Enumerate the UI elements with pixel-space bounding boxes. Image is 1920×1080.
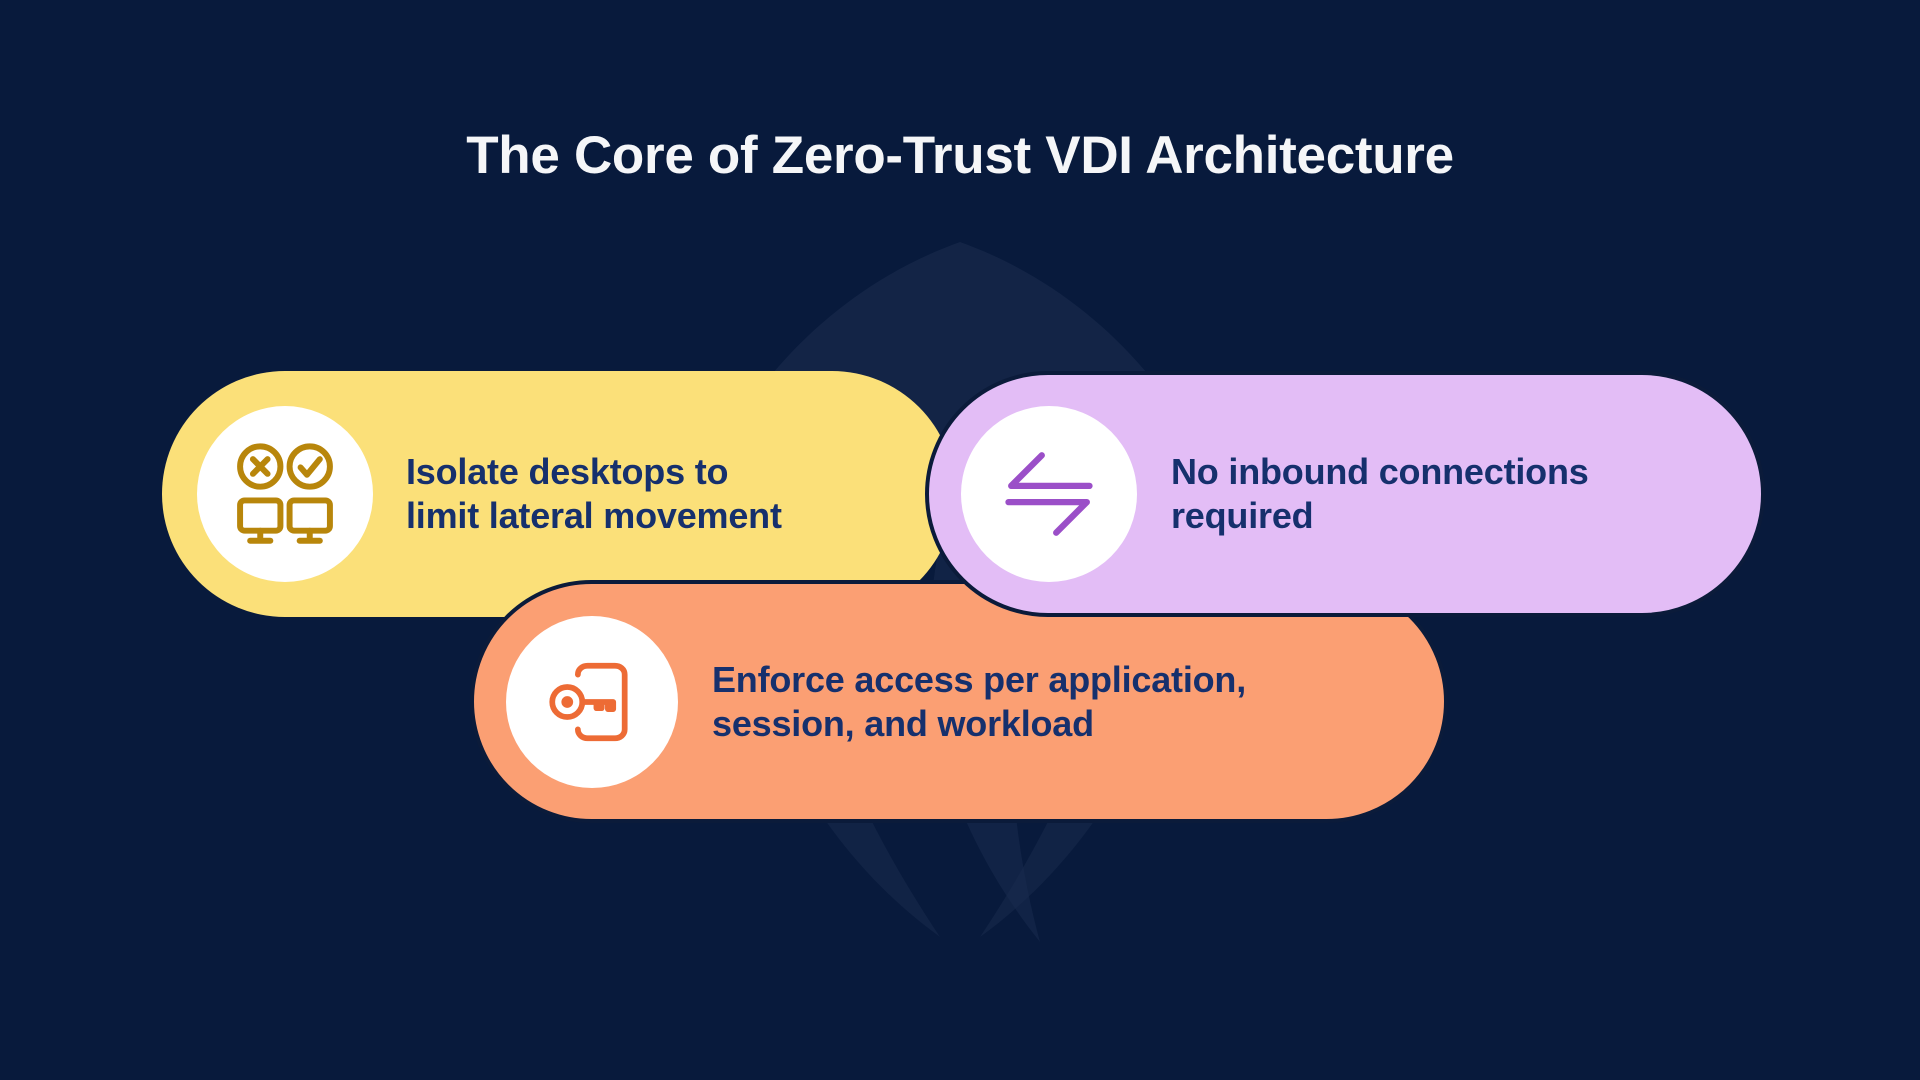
infographic-canvas: The Core of Zero-Trust VDI Architecture: [0, 0, 1920, 1080]
icon-circle-yellow: [197, 406, 373, 582]
key-door-access-icon: [539, 649, 645, 755]
card-line: required: [1171, 494, 1731, 538]
page-title: The Core of Zero-Trust VDI Architecture: [0, 127, 1920, 185]
card-text-isolate-desktops: Isolate desktops to limit lateral moveme…: [406, 450, 906, 538]
card-text-enforce-access: Enforce access per application, session,…: [712, 658, 1412, 746]
screens-allow-deny-icon: [230, 439, 340, 549]
card-line: session, and workload: [712, 702, 1412, 746]
card-line: limit lateral movement: [406, 494, 906, 538]
card-line: Enforce access per application,: [712, 658, 1412, 702]
card-text-no-inbound-connections: No inbound connections required: [1171, 450, 1731, 538]
card-no-inbound-connections[interactable]: No inbound connections required: [925, 371, 1765, 617]
card-line: Isolate desktops to: [406, 450, 906, 494]
icon-circle-orange: [506, 616, 678, 788]
card-line: No inbound connections: [1171, 450, 1731, 494]
icon-circle-purple: [961, 406, 1137, 582]
bidirectional-arrows-icon: [995, 440, 1103, 548]
